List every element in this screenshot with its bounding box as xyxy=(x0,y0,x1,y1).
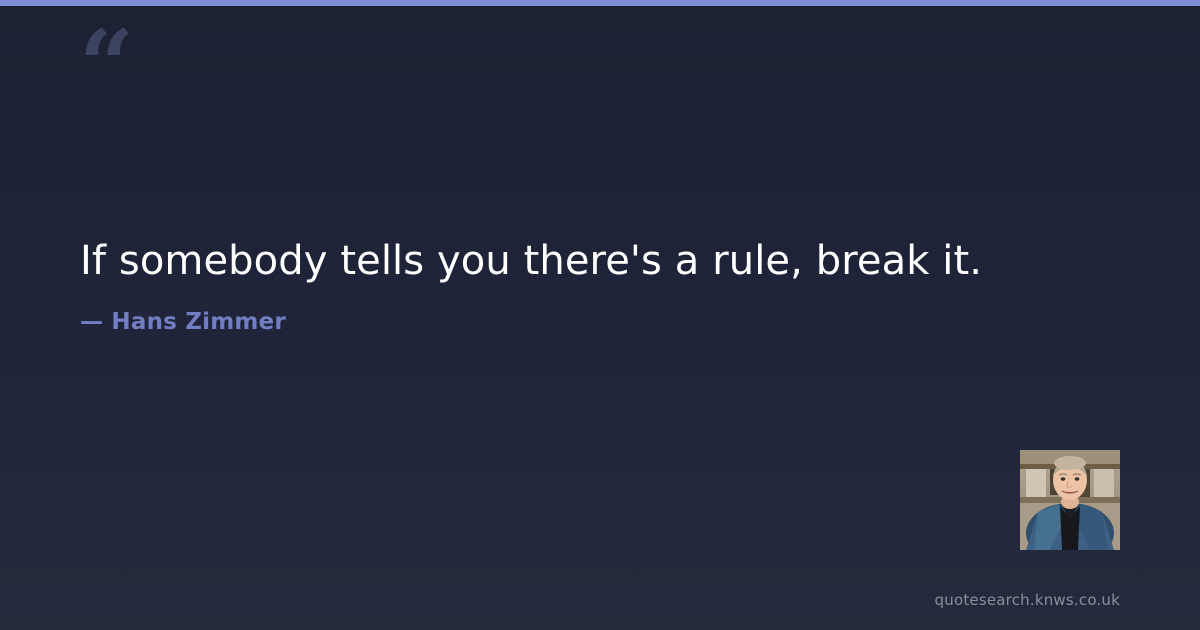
author-portrait xyxy=(1020,450,1120,550)
top-accent-bar xyxy=(0,0,1200,6)
open-quote-icon: “ xyxy=(79,18,132,114)
quote-attribution: — Hans Zimmer xyxy=(80,309,1120,335)
quote-card: “ If somebody tells you there's a rule, … xyxy=(0,0,1200,630)
site-watermark: quotesearch.knws.co.uk xyxy=(935,591,1120,609)
quote-text: If somebody tells you there's a rule, br… xyxy=(80,236,1120,287)
author-portrait-image xyxy=(1020,450,1120,550)
quote-body: If somebody tells you there's a rule, br… xyxy=(80,236,1120,335)
